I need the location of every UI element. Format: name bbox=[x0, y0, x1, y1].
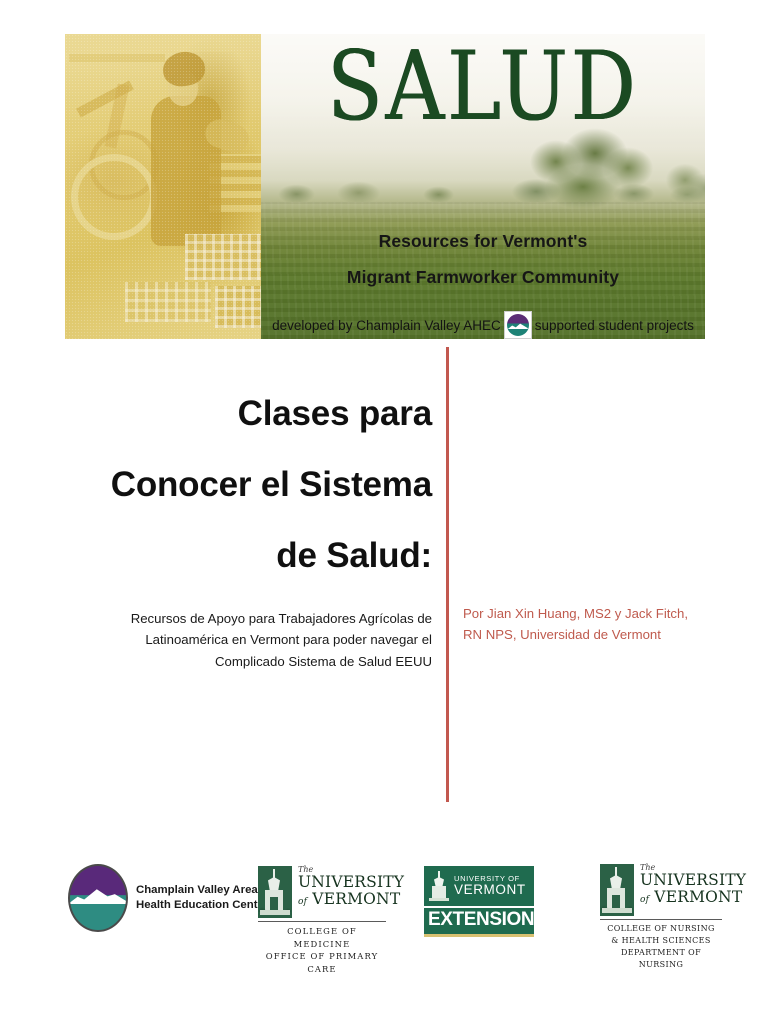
salud-wordmark: SALUD bbox=[261, 40, 705, 136]
page-top-edge bbox=[0, 0, 770, 1]
page-subtitle-line-3: Complicado Sistema de Salud EEUU bbox=[80, 651, 432, 672]
uvm-nursing-university: UNIVERSITY bbox=[640, 873, 746, 889]
sponsor-logo-row: Champlain Valley Area Health Education C… bbox=[0, 862, 770, 948]
uvm-nursing-subline-3: DEPARTMENT OF NURSING bbox=[600, 947, 722, 971]
uvm-nursing-rule bbox=[600, 919, 722, 920]
page-title-line-2: Conocer el Sistema bbox=[40, 467, 432, 502]
uvm-med-subline-2: OFFICE OF PRIMARY CARE bbox=[258, 950, 386, 975]
uvm-extension-header: UNIVERSITY OF VERMONT bbox=[424, 866, 534, 906]
ahec-logo-line-1: Champlain Valley Area bbox=[136, 883, 268, 898]
photo-halftone-overlay bbox=[65, 34, 261, 339]
farm-field-photo: SALUD Resources for Vermont's Migrant Fa… bbox=[261, 34, 705, 339]
page-subtitle: Recursos de Apoyo para Trabajadores Agrí… bbox=[80, 608, 432, 672]
ahec-logo-line-2: Health Education Center bbox=[136, 898, 268, 913]
uvm-extension-wordmark: UNIVERSITY OF VERMONT bbox=[454, 875, 526, 898]
page-title-line-3: de Salud: bbox=[40, 538, 432, 573]
uvm-med-university: UNIVERSITY bbox=[298, 875, 404, 891]
uvm-nursing-vermont: VERMONT bbox=[654, 888, 742, 906]
logo-champlain-valley-ahec: Champlain Valley Area Health Education C… bbox=[68, 864, 268, 932]
champlain-valley-ahec-mark-icon bbox=[504, 311, 532, 339]
page-subtitle-line-1: Recursos de Apoyo para Trabajadores Agrí… bbox=[80, 608, 432, 629]
logo-uvm-college-of-nursing: The UNIVERSITY of VERMONT COLLEGE OF NUR… bbox=[600, 864, 722, 971]
ahec-logo-text: Champlain Valley Area Health Education C… bbox=[136, 883, 268, 913]
logo-uvm-extension: UNIVERSITY OF VERMONT EXTENSION bbox=[424, 866, 534, 937]
uvm-nursing-of: of bbox=[640, 895, 649, 905]
page-title-line-1: Clases para bbox=[40, 396, 432, 431]
banner-tagline-line-1: Resources for Vermont's bbox=[261, 231, 705, 252]
uvm-extension-vermont: VERMONT bbox=[454, 883, 526, 898]
uvm-ira-allen-tower-icon bbox=[258, 866, 292, 918]
vertical-divider bbox=[446, 347, 449, 802]
banner-credit-after: supported student projects bbox=[535, 318, 694, 333]
uvm-med-rule bbox=[258, 921, 386, 922]
uvm-nursing-subline-1: COLLEGE OF NURSING bbox=[600, 923, 722, 935]
uvm-nursing-vermont-row: of VERMONT bbox=[640, 890, 746, 906]
uvm-extension-band: EXTENSION bbox=[424, 908, 534, 934]
page-title: Clases para Conocer el Sistema de Salud: bbox=[40, 396, 432, 573]
banner-credit-before: developed by Champlain Valley AHEC bbox=[272, 318, 501, 333]
author-credit: Por Jian Xin Huang, MS2 y Jack Fitch, RN… bbox=[463, 603, 693, 646]
uvm-med-wordmark: The UNIVERSITY of VERMONT bbox=[298, 866, 404, 907]
banner-tagline-line-2: Migrant Farmworker Community bbox=[261, 267, 705, 288]
uvm-extension-gold-rule bbox=[424, 934, 534, 937]
uvm-nursing-tower-icon bbox=[600, 864, 634, 916]
uvm-med-subline-1: COLLEGE OF MEDICINE bbox=[258, 925, 386, 950]
banner-credit: developed by Champlain Valley AHEC suppo… bbox=[261, 311, 705, 339]
uvm-nursing-subline-2: & HEALTH SCIENCES bbox=[600, 935, 722, 947]
salud-banner: SALUD Resources for Vermont's Migrant Fa… bbox=[65, 34, 705, 339]
farmworker-photo bbox=[65, 34, 261, 339]
logo-uvm-college-of-medicine: The UNIVERSITY of VERMONT COLLEGE OF MED… bbox=[258, 866, 386, 975]
uvm-med-of: of bbox=[298, 897, 307, 907]
uvm-extension-tower-icon bbox=[429, 870, 449, 902]
uvm-nursing-wordmark: The UNIVERSITY of VERMONT bbox=[640, 864, 746, 905]
uvm-med-vermont: VERMONT bbox=[312, 890, 400, 908]
uvm-med-vermont-row: of VERMONT bbox=[298, 892, 404, 908]
page-subtitle-line-2: Latinoamérica en Vermont para poder nave… bbox=[80, 629, 432, 650]
ahec-mountain-icon bbox=[68, 864, 128, 932]
